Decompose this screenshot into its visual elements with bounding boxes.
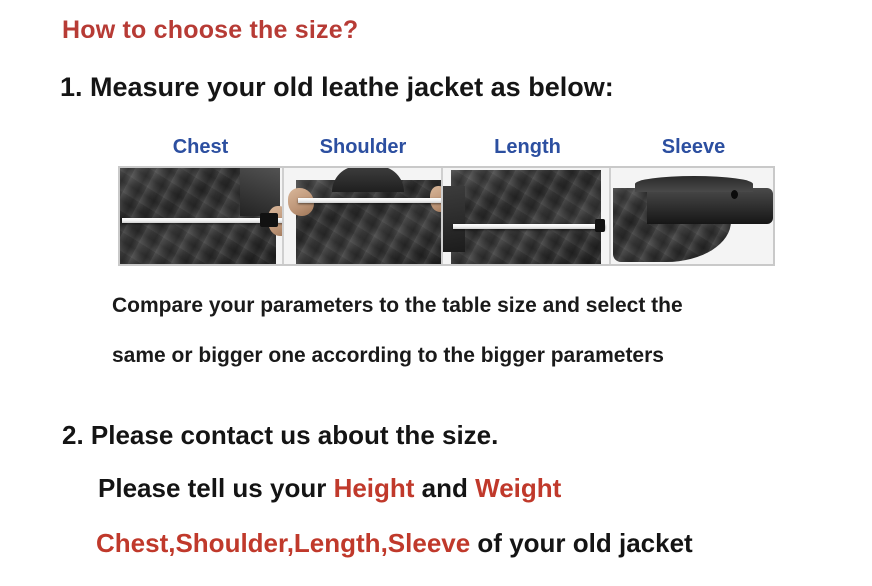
panel-label-length: Length: [443, 136, 612, 159]
size-guide-page: How to choose the size? 1. Measure your …: [0, 0, 872, 586]
weight-highlight: Weight: [475, 473, 561, 503]
compare-note-line-1: Compare your parameters to the table siz…: [112, 294, 683, 318]
page-title: How to choose the size?: [62, 16, 358, 45]
measures-highlight: Chest,Shoulder,Length,Sleeve: [96, 528, 470, 558]
step-two-heading: 2. Please contact us about the size.: [62, 420, 498, 451]
measurement-labels-row: Chest Shoulder Length Sleeve: [118, 136, 775, 164]
measures-line: Chest,Shoulder,Length,Sleeve of your old…: [96, 528, 693, 559]
panel-label-chest: Chest: [118, 136, 283, 159]
measurement-photo-strip: [118, 166, 775, 266]
and-connector: and: [414, 473, 475, 503]
tell-us-prefix: Please tell us your: [98, 473, 334, 503]
tell-us-line: Please tell us your Height and Weight: [98, 473, 561, 504]
step-one-heading: 1. Measure your old leathe jacket as bel…: [60, 72, 614, 103]
jacket-chest-photo: [120, 168, 284, 264]
measures-suffix: of your old jacket: [470, 528, 693, 558]
jacket-sleeve-photo: [611, 168, 773, 264]
compare-note-line-2: same or bigger one according to the bigg…: [112, 344, 664, 368]
jacket-shoulder-photo: [284, 168, 443, 264]
height-highlight: Height: [334, 473, 415, 503]
panel-label-sleeve: Sleeve: [612, 136, 775, 159]
panel-label-shoulder: Shoulder: [283, 136, 443, 159]
jacket-length-photo: [443, 168, 611, 264]
